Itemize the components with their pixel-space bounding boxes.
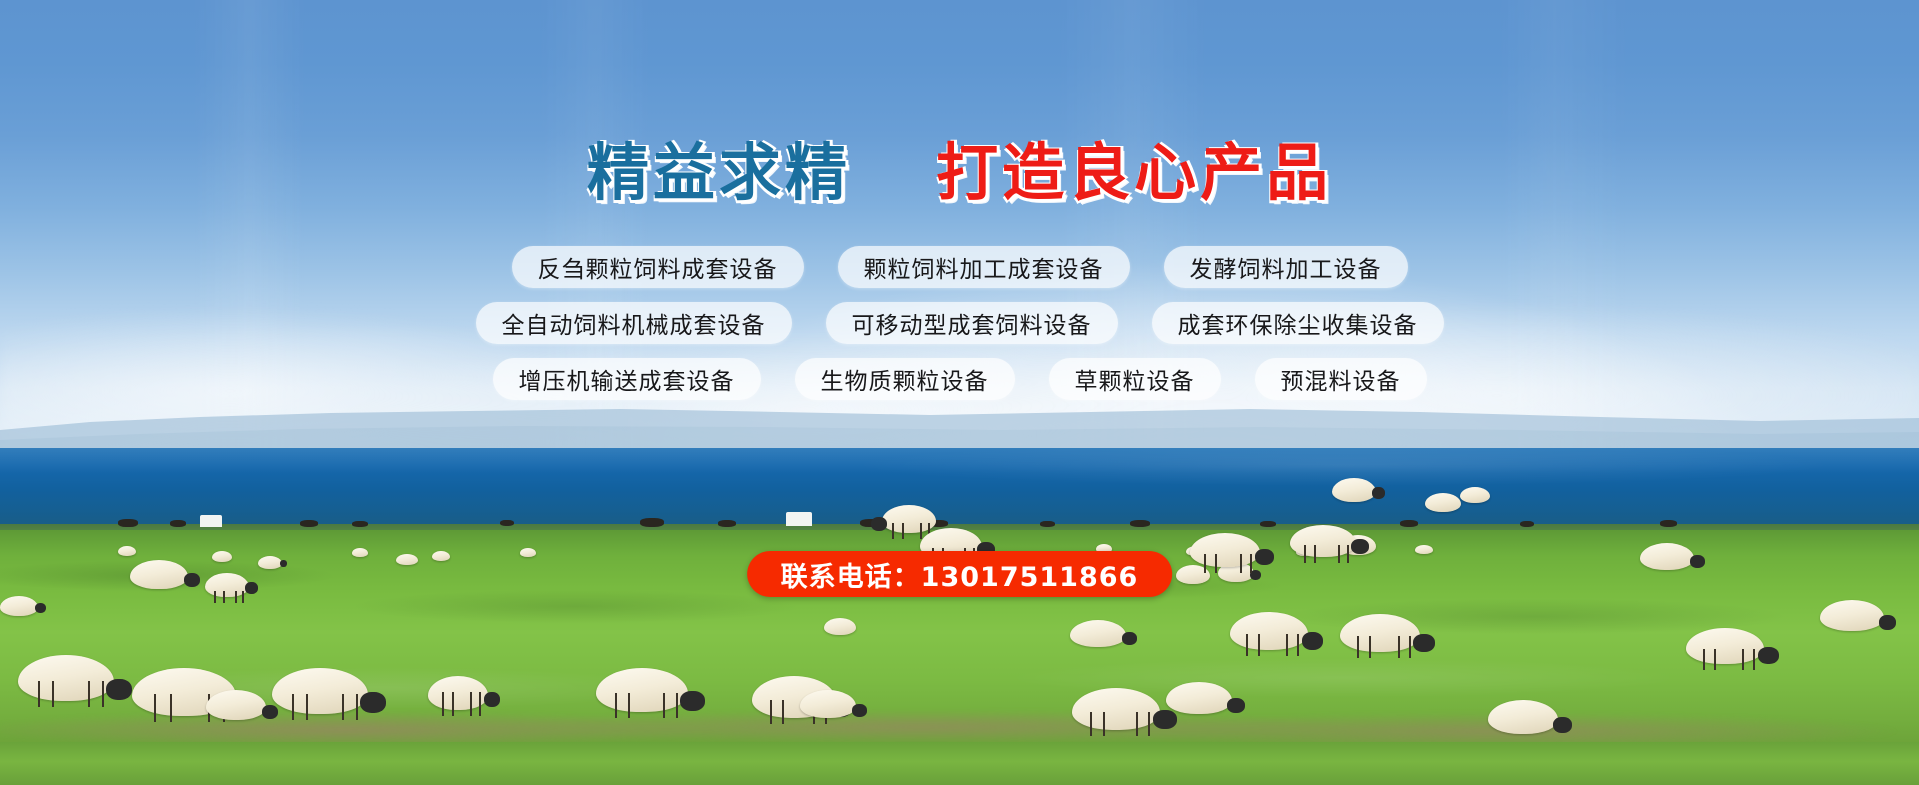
pill-category[interactable]: 成套环保除尘收集设备 (1152, 302, 1444, 344)
pill-row-2: 全自动饲料机械成套设备 可移动型成套饲料设备 成套环保除尘收集设备 (0, 302, 1919, 344)
sheep (1072, 688, 1160, 730)
pill-category[interactable]: 草颗粒设备 (1049, 358, 1221, 400)
headline-blue-text: 精益求精 (587, 136, 851, 209)
sheep (352, 548, 368, 557)
contact-phone-banner[interactable]: 联系电话：13017511866 (747, 551, 1173, 597)
sheep (520, 548, 536, 557)
promo-banner: 精益求精 打造良心产品 反刍颗粒饲料成套设备 颗粒饲料加工成套设备 发酵饲料加工… (0, 0, 1919, 785)
sheep (800, 690, 856, 718)
pill-row-1: 反刍颗粒饲料成套设备 颗粒饲料加工成套设备 发酵饲料加工设备 (0, 246, 1919, 288)
pill-category[interactable]: 发酵饲料加工设备 (1164, 246, 1408, 288)
sheep (1415, 545, 1433, 554)
sheep (1460, 487, 1490, 503)
sheep (1686, 628, 1764, 664)
sheep (130, 560, 188, 589)
sheep (212, 551, 232, 562)
sheep (1640, 543, 1694, 570)
sheep (18, 655, 114, 701)
sheep (118, 546, 136, 556)
pill-category[interactable]: 颗粒饲料加工成套设备 (838, 246, 1130, 288)
sheep (596, 668, 688, 712)
sheep (432, 551, 450, 561)
sheep (1230, 612, 1308, 650)
sheep (0, 596, 38, 616)
sheep (272, 668, 368, 714)
sheep (428, 676, 488, 710)
sheep (1070, 620, 1126, 647)
sheep (396, 554, 418, 565)
headline-red-text: 打造良心产品 (936, 136, 1332, 209)
sheep (1340, 614, 1420, 652)
pill-category[interactable]: 反刍颗粒饲料成套设备 (512, 246, 804, 288)
pill-category[interactable]: 可移动型成套饲料设备 (826, 302, 1118, 344)
pill-category[interactable]: 增压机输送成套设备 (493, 358, 761, 400)
sheep (824, 618, 856, 635)
sheep (1820, 600, 1884, 631)
pill-row-3: 增压机输送成套设备 生物质颗粒设备 草颗粒设备 预混料设备 (0, 358, 1919, 400)
sheep (205, 573, 249, 597)
sheep (1166, 682, 1232, 714)
headline: 精益求精 打造良心产品 (0, 142, 1919, 204)
sheep (1290, 525, 1356, 557)
sheep (1425, 493, 1461, 512)
pill-category[interactable]: 全自动饲料机械成套设备 (476, 302, 792, 344)
product-category-pills: 反刍颗粒饲料成套设备 颗粒饲料加工成套设备 发酵饲料加工设备 全自动饲料机械成套… (0, 246, 1919, 414)
pill-category[interactable]: 预混料设备 (1255, 358, 1427, 400)
pill-category[interactable]: 生物质颗粒设备 (795, 358, 1015, 400)
sheep (206, 690, 266, 720)
sheep (258, 556, 282, 569)
sheep (1190, 533, 1260, 567)
sheep (1332, 478, 1376, 502)
sheep (1488, 700, 1558, 734)
